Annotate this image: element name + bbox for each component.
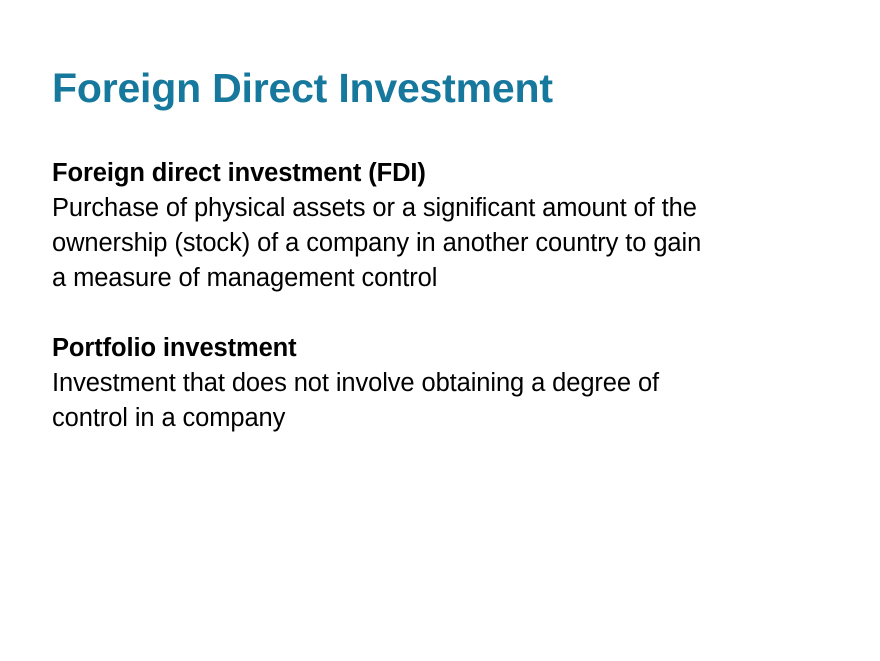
section-body-line: ownership (stock) of a company in anothe… — [52, 226, 842, 261]
section-fdi: Foreign direct investment (FDI) Purchase… — [52, 156, 842, 296]
section-heading-portfolio: Portfolio investment — [52, 331, 842, 366]
section-heading-fdi: Foreign direct investment (FDI) — [52, 156, 842, 191]
slide-canvas: Foreign Direct Investment Foreign direct… — [0, 0, 880, 661]
slide-body: Foreign direct investment (FDI) Purchase… — [52, 156, 842, 436]
section-body-line: Purchase of physical assets or a signifi… — [52, 191, 842, 226]
section-body-line: a measure of management control — [52, 261, 842, 296]
section-body-line: Investment that does not involve obtaini… — [52, 366, 842, 401]
section-body-line: control in a company — [52, 401, 842, 436]
section-portfolio: Portfolio investment Investment that doe… — [52, 331, 842, 436]
page-title: Foreign Direct Investment — [52, 66, 553, 112]
